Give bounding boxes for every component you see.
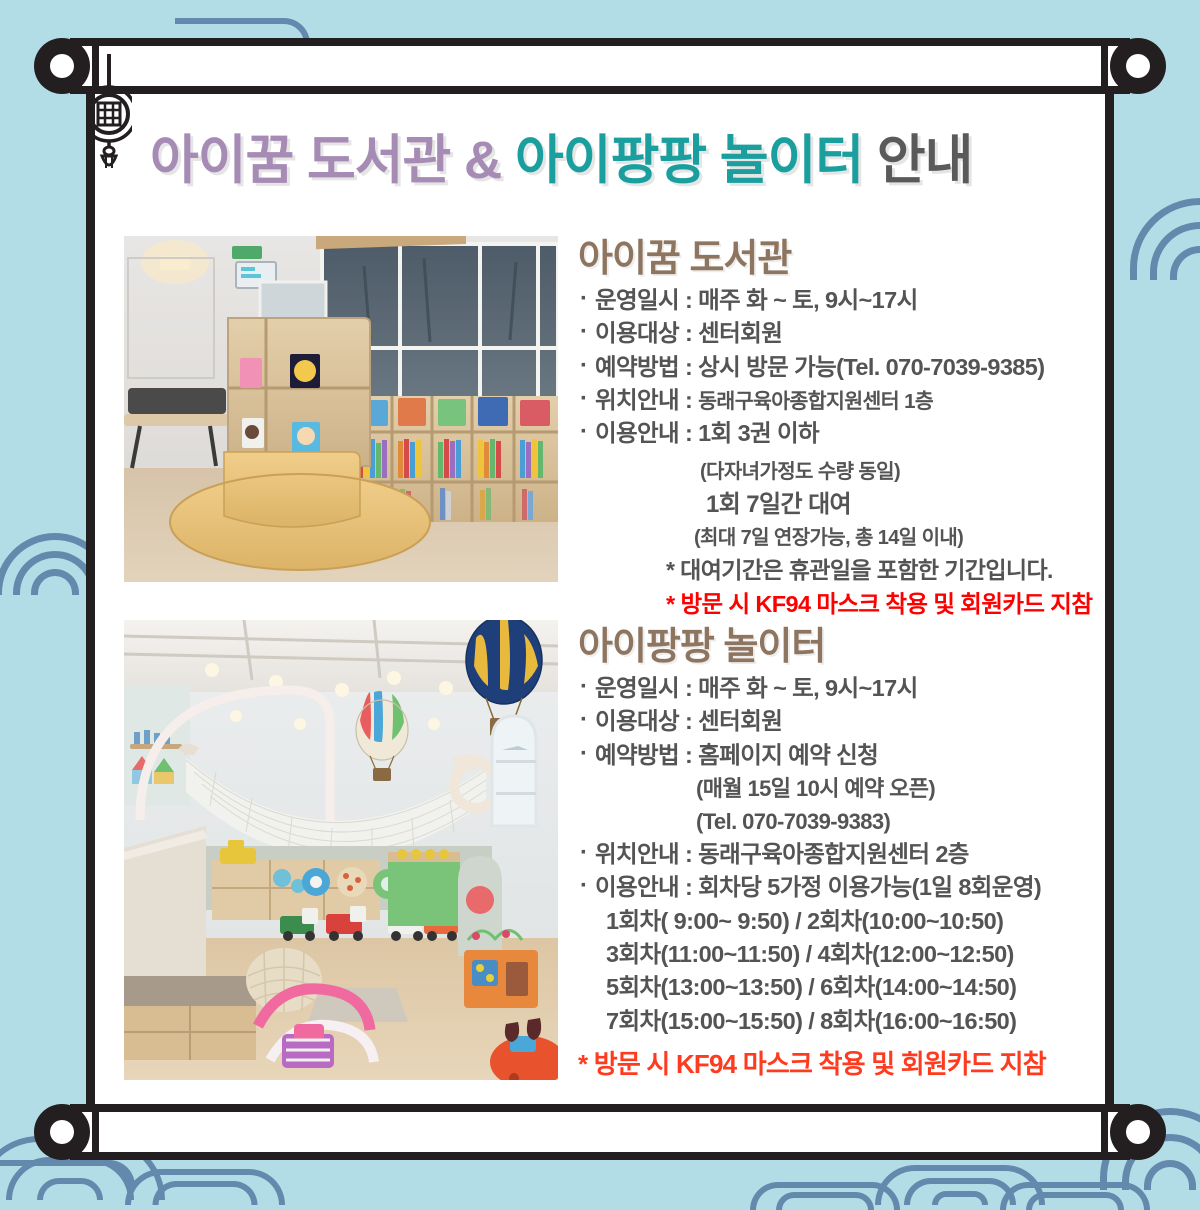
deco-arc-right (1125, 190, 1200, 280)
library-sub-loan: 1회 7일간 대여 (578, 487, 1134, 523)
deco-wave-center-left (745, 1180, 905, 1210)
frame-crossbar-bottom (70, 1104, 1130, 1160)
playground-bullet-usage: 이용안내 : 회차당 5가정 이용가능(1일 8회운영) (578, 871, 1134, 904)
library-bullet-list: 운영일시 : 매주 화 ~ 토, 9시~17시 이용대상 : 센터회원 예약방법… (578, 284, 1134, 451)
library-photo (124, 236, 558, 582)
library-sub-same-qty: (다자녀가정도 수량 동일) (578, 457, 1134, 487)
poster-title: 아이꿈 도서관 & 아이팡팡 놀이터 안내 (150, 118, 1110, 194)
library-sub-note: * 대여기간은 휴관일을 포함한 기간입니다. (578, 553, 1134, 588)
library-bullet-location: 위치안내 : 동래구육아종합지원센터 1층 (578, 384, 1134, 417)
frame-knob-bottom-right (1110, 1104, 1166, 1160)
playground-session-line-4: 7회차(15:00~15:50) / 8회차(16:00~16:50) (578, 1005, 1134, 1038)
title-library-part: 아이꿈 도서관 (150, 131, 450, 190)
playground-heading: 아이팡팡 놀이터 (578, 628, 1134, 668)
deco-wave-center-right (995, 1180, 1155, 1210)
playground-bullet-list: 운영일시 : 매주 화 ~ 토, 9시~17시 이용대상 : 센터회원 예약방법… (578, 672, 1134, 772)
frame-knob-top-right (1110, 38, 1166, 94)
frame-crossbar-top (70, 38, 1130, 94)
library-sub-warning: * 방문 시 KF94 마스크 착용 및 회원카드 지참 (578, 587, 1134, 622)
frame-knob-bottom-left (34, 1104, 90, 1160)
library-sub-extension: (최대 7일 연장가능, 총 14일 이내) (578, 523, 1134, 553)
library-bullet-hours: 운영일시 : 매주 화 ~ 토, 9시~17시 (578, 284, 1134, 317)
playground-photo (124, 620, 558, 1080)
playground-bullet-list-2: 위치안내 : 동래구육아종합지원센터 2층 이용안내 : 회차당 5가정 이용가… (578, 838, 1134, 905)
playground-text-column: 아이팡팡 놀이터 운영일시 : 매주 화 ~ 토, 9시~17시 이용대상 : … (578, 628, 1134, 1081)
title-ampersand: & (464, 131, 501, 190)
library-bullet-usage: 이용안내 : 1회 3권 이하 (578, 417, 1134, 450)
deco-line-bottom-left (0, 1160, 135, 1186)
playground-session-line-2: 3회차(11:00~11:50) / 4회차(12:00~12:50) (578, 938, 1134, 971)
playground-warning: * 방문 시 KF94 마스크 착용 및 회원카드 지참 (578, 1044, 1134, 1081)
playground-session-line-1: 1회차( 9:00~ 9:50) / 2회차(10:00~10:50) (578, 905, 1134, 938)
library-bullet-booking: 예약방법 : 상시 방문 가능(Tel. 070-7039-9385) (578, 351, 1134, 384)
playground-bullet-hours: 운영일시 : 매주 화 ~ 토, 9시~17시 (578, 672, 1134, 705)
playground-bullet-location: 위치안내 : 동래구육아종합지원센터 2층 (578, 838, 1134, 871)
library-bullet-audience: 이용대상 : 센터회원 (578, 317, 1134, 350)
library-sub-block: (다자녀가정도 수량 동일) 1회 7일간 대여 (최대 7일 연장가능, 총 … (578, 457, 1134, 623)
playground-session-line-3: 5회차(13:00~13:50) / 6회차(14:00~14:50) (578, 971, 1134, 1004)
deco-wave-center (870, 1160, 1050, 1205)
title-playground-part: 아이팡팡 놀이터 (515, 131, 863, 190)
playground-sub-open: (매월 15일 10시 예약 오픈) (578, 772, 1134, 805)
library-location-label: 위치안내 : (595, 387, 698, 413)
library-text-column: 아이꿈 도서관 운영일시 : 매주 화 ~ 토, 9시~17시 이용대상 : 센… (578, 240, 1134, 622)
frame-knob-top-left (34, 38, 90, 94)
playground-bullet-booking: 예약방법 : 홈페이지 예약 신청 (578, 739, 1134, 772)
deco-wave-bottom-left-2 (120, 1165, 290, 1205)
library-location-value: 동래구육아종합지원센터 1층 (698, 390, 933, 413)
norigae-knot-icon (86, 54, 132, 174)
playground-sub-tel: (Tel. 070-7039-9383) (578, 805, 1134, 838)
playground-bullet-audience: 이용대상 : 센터회원 (578, 705, 1134, 738)
title-info-part: 안내 (877, 131, 973, 190)
library-heading: 아이꿈 도서관 (578, 240, 1134, 280)
